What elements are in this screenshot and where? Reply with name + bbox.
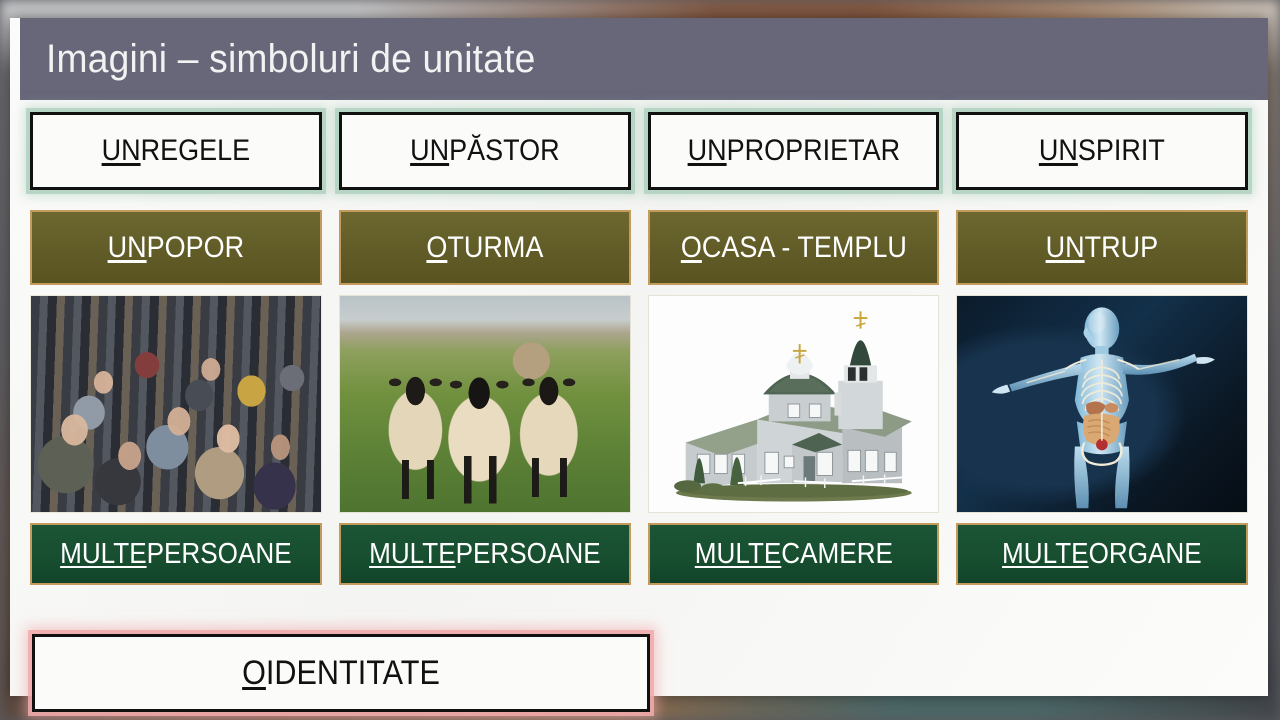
slide-title-bar: Imagini – simboluri de unitate bbox=[20, 18, 1268, 100]
label-multe-persoane-1: MULTE PERSOANE bbox=[46, 525, 305, 583]
label-multe-persoane-2: MULTE PERSOANE bbox=[355, 525, 614, 583]
box-un-regele[interactable]: UN REGELE bbox=[30, 112, 322, 190]
box-multe-camere[interactable]: MULTE CAMERE bbox=[648, 523, 940, 585]
flock-of-sheep-photo bbox=[339, 295, 631, 513]
label-rest: POPOR bbox=[147, 231, 245, 265]
label-rest: ORGANE bbox=[1089, 538, 1202, 571]
column-regele-popor: UN REGELE UN POPOR MULTE PERSOANE bbox=[30, 112, 322, 585]
column-proprietar-casa: UN PROPRIETAR O CASA - TEMPLU bbox=[648, 112, 940, 585]
crowd-of-people-photo bbox=[30, 295, 322, 513]
label-un-pastor: UN PĂSTOR bbox=[356, 115, 613, 187]
label-prefix: UN bbox=[687, 134, 726, 168]
anatomy-illustration bbox=[957, 296, 1247, 512]
label-prefix: MULTE bbox=[1002, 538, 1089, 571]
human-anatomy-photo bbox=[956, 295, 1248, 513]
box-un-popor[interactable]: UN POPOR bbox=[30, 210, 322, 285]
label-prefix: MULTE bbox=[694, 538, 781, 571]
label-rest: PĂSTOR bbox=[449, 134, 560, 168]
label-rest: PERSOANE bbox=[455, 538, 600, 571]
label-rest: REGELE bbox=[141, 134, 251, 168]
label-prefix: MULTE bbox=[60, 538, 147, 571]
box-un-pastor[interactable]: UN PĂSTOR bbox=[339, 112, 631, 190]
church-illustration bbox=[649, 296, 939, 512]
page-title: Imagini – simboluri de unitate bbox=[20, 37, 535, 82]
label-rest: IDENTITATE bbox=[266, 654, 440, 693]
slide-stage: Imagini – simboluri de unitate UN REGELE… bbox=[0, 0, 1280, 720]
label-rest: TRUP bbox=[1085, 231, 1159, 265]
label-prefix: MULTE bbox=[369, 538, 456, 571]
label-un-spirit: UN SPIRIT bbox=[974, 115, 1231, 187]
box-o-identitate[interactable]: O IDENTITATE bbox=[32, 634, 650, 712]
label-prefix: UN bbox=[102, 134, 141, 168]
symbols-grid: UN REGELE UN POPOR MULTE PERSOANE bbox=[30, 112, 1248, 585]
box-o-turma[interactable]: O TURMA bbox=[339, 210, 631, 285]
box-multe-organe[interactable]: MULTE ORGANE bbox=[956, 523, 1248, 585]
box-o-casa-templu[interactable]: O CASA - TEMPLU bbox=[648, 210, 940, 285]
label-prefix: UN bbox=[1039, 134, 1078, 168]
label-un-trup: UN TRUP bbox=[973, 212, 1232, 283]
orthodox-church-photo bbox=[648, 295, 940, 513]
label-prefix: UN bbox=[108, 231, 147, 265]
label-o-turma: O TURMA bbox=[355, 212, 614, 283]
column-spirit-trup: UN SPIRIT UN TRUP bbox=[956, 112, 1248, 585]
label-prefix: UN bbox=[1046, 231, 1085, 265]
label-rest: TURMA bbox=[447, 231, 543, 265]
box-un-trup[interactable]: UN TRUP bbox=[956, 210, 1248, 285]
label-o-identitate: O IDENTITATE bbox=[66, 637, 617, 709]
label-rest: CAMERE bbox=[781, 538, 893, 571]
box-un-proprietar[interactable]: UN PROPRIETAR bbox=[648, 112, 940, 190]
label-rest: PERSOANE bbox=[147, 538, 292, 571]
box-un-spirit[interactable]: UN SPIRIT bbox=[956, 112, 1248, 190]
label-rest: PROPRIETAR bbox=[726, 134, 900, 168]
label-multe-camere: MULTE CAMERE bbox=[664, 525, 923, 583]
label-prefix: O bbox=[680, 231, 701, 265]
label-rest: SPIRIT bbox=[1078, 134, 1165, 168]
box-multe-persoane-1[interactable]: MULTE PERSOANE bbox=[30, 523, 322, 585]
label-un-proprietar: UN PROPRIETAR bbox=[665, 115, 922, 187]
label-o-casa-templu: O CASA - TEMPLU bbox=[664, 212, 923, 283]
label-prefix: O bbox=[426, 231, 447, 265]
label-un-regele: UN REGELE bbox=[47, 115, 304, 187]
slide-card: Imagini – simboluri de unitate UN REGELE… bbox=[10, 18, 1268, 696]
label-prefix: O bbox=[242, 654, 266, 693]
box-multe-persoane-2[interactable]: MULTE PERSOANE bbox=[339, 523, 631, 585]
column-pastor-turma: UN PĂSTOR O TURMA MULTE PERSOANE bbox=[339, 112, 631, 585]
label-prefix: UN bbox=[410, 134, 449, 168]
label-un-popor: UN POPOR bbox=[46, 212, 305, 283]
label-multe-organe: MULTE ORGANE bbox=[973, 525, 1232, 583]
label-rest: CASA - TEMPLU bbox=[701, 231, 906, 265]
